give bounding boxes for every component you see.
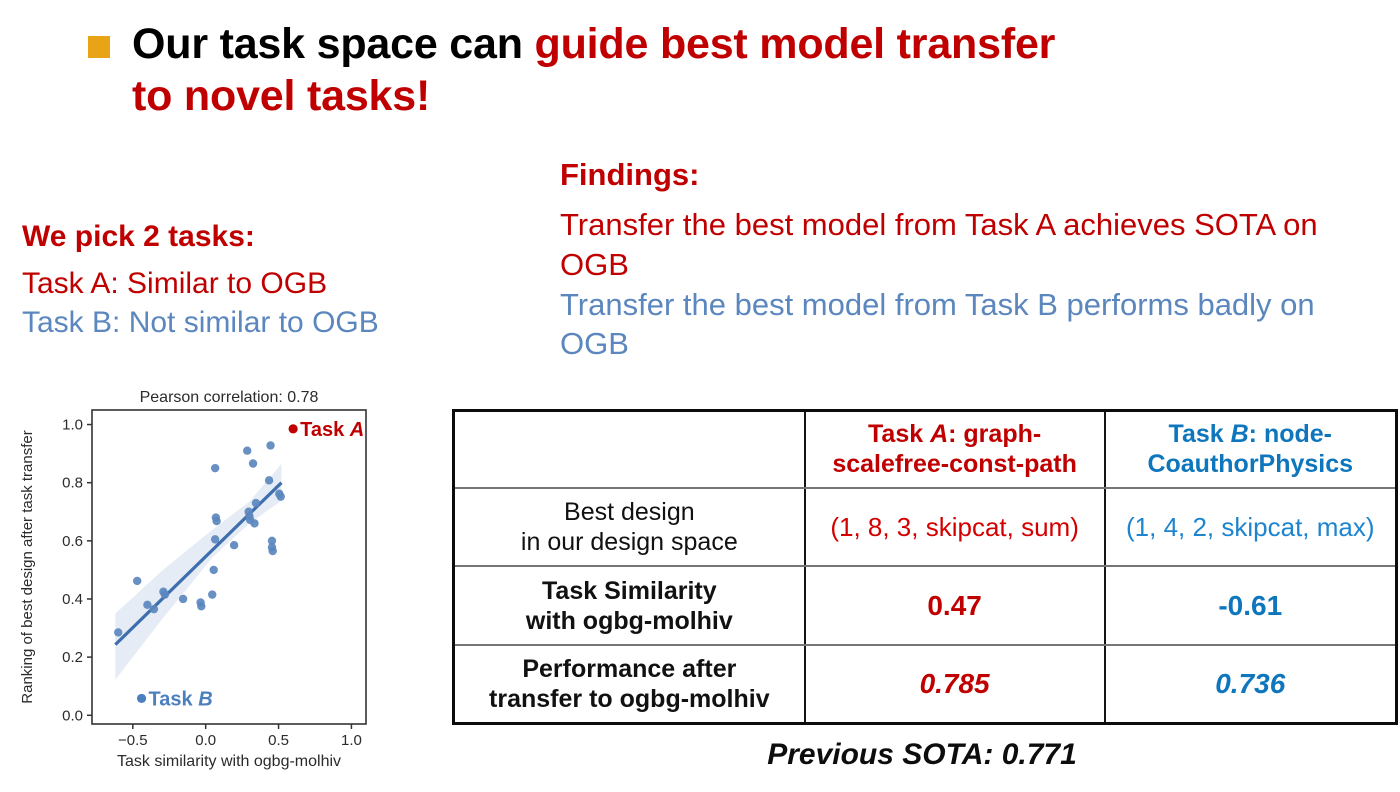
scatter-point bbox=[269, 547, 277, 555]
annotation-dot-icon bbox=[137, 694, 146, 703]
scatter-point bbox=[265, 476, 273, 484]
findings-task-b-text: Transfer the best model from Task B perf… bbox=[560, 285, 1390, 364]
scatter-point bbox=[266, 441, 274, 449]
row1-label-line1: Task Similarity bbox=[542, 577, 717, 605]
annotation-label: Task A bbox=[300, 419, 364, 441]
y-tick-label: 0.2 bbox=[62, 649, 83, 666]
chart-title: Pearson correlation: 0.78 bbox=[140, 389, 319, 406]
x-axis-label: Task similarity with ogbg-molhiv bbox=[117, 753, 341, 770]
table-row: Task Similarity with ogbg-molhiv 0.47 -0… bbox=[455, 566, 1395, 644]
row2-value-task-a: 0.785 bbox=[805, 645, 1105, 722]
row-label-performance-after-transfer: Performance after transfer to ogbg-molhi… bbox=[455, 645, 805, 722]
previous-sota-text: Previous SOTA: 0.771 bbox=[452, 738, 1392, 772]
scatter-point bbox=[161, 590, 169, 598]
hdr-b-line2: CoauthorPhysics bbox=[1147, 450, 1353, 478]
row1-label-line2: with ogbg-molhiv bbox=[526, 607, 733, 635]
row-label-best-design: Best design in our design space bbox=[455, 488, 805, 566]
y-tick-label: 0.8 bbox=[62, 475, 83, 492]
scatter-point bbox=[197, 602, 205, 610]
title-line2-red: to novel tasks! bbox=[132, 72, 430, 120]
y-tick-label: 0.6 bbox=[62, 533, 83, 550]
row0-value-task-a: (1, 8, 3, skipcat, sum) bbox=[805, 488, 1105, 566]
row1-value-task-b: -0.61 bbox=[1105, 566, 1395, 644]
annotation-dot-icon bbox=[289, 424, 298, 433]
scatter-point bbox=[277, 492, 285, 500]
we-pick-tasks-block: We pick 2 tasks: Task A: Similar to OGB … bbox=[22, 218, 542, 342]
scatter-point bbox=[230, 541, 238, 549]
scatter-point bbox=[114, 628, 122, 636]
scatter-plot-svg: Pearson correlation: 0.78−0.50.00.51.00.… bbox=[14, 386, 374, 778]
chart-annotation-a: Task A bbox=[289, 419, 365, 441]
findings-task-a-text: Transfer the best model from Task A achi… bbox=[560, 205, 1390, 284]
row1-value-task-a: 0.47 bbox=[805, 566, 1105, 644]
table-row: Best design in our design space (1, 8, 3… bbox=[455, 488, 1395, 566]
hdr-a-line2: scalefree-const-path bbox=[832, 450, 1077, 478]
scatter-plot: Pearson correlation: 0.78−0.50.00.51.00.… bbox=[14, 386, 374, 778]
square-bullet-icon bbox=[88, 36, 110, 58]
x-tick-label: 1.0 bbox=[341, 732, 362, 749]
hdr-b-rest: : node- bbox=[1249, 420, 1332, 448]
y-tick-label: 0.4 bbox=[62, 591, 83, 608]
scatter-point bbox=[243, 447, 251, 455]
hdr-b-prefix: Task bbox=[1169, 420, 1231, 448]
slide-title-block: Our task space can guide best model tran… bbox=[88, 18, 1378, 123]
scatter-point bbox=[249, 459, 257, 467]
x-tick-label: −0.5 bbox=[118, 732, 148, 749]
y-tick-label: 1.0 bbox=[62, 417, 83, 434]
title-line1-black: Our task space can bbox=[132, 20, 535, 68]
table-row: Performance after transfer to ogbg-molhi… bbox=[455, 645, 1395, 722]
y-axis-label: Ranking of best design after task transf… bbox=[19, 430, 36, 703]
table-header-task-b: Task B: node- CoauthorPhysics bbox=[1105, 412, 1395, 488]
scatter-point bbox=[209, 566, 217, 574]
scatter-point bbox=[150, 605, 158, 613]
row0-label-line1: Best design bbox=[564, 498, 695, 526]
scatter-point bbox=[211, 464, 219, 472]
title-line1-red: guide best model transfer bbox=[535, 20, 1056, 68]
row0-value-task-b: (1, 4, 2, skipcat, max) bbox=[1105, 488, 1395, 566]
plot-frame bbox=[92, 410, 366, 724]
row2-label-line1: Performance after bbox=[522, 655, 736, 683]
row-label-task-similarity: Task Similarity with ogbg-molhiv bbox=[455, 566, 805, 644]
scatter-point bbox=[208, 590, 216, 598]
results-table: Task A: graph- scalefree-const-path Task… bbox=[452, 409, 1398, 725]
x-tick-label: 0.5 bbox=[268, 732, 289, 749]
scatter-point bbox=[211, 535, 219, 543]
scatter-point bbox=[212, 517, 220, 525]
pick-task-b-text: Task B: Not similar to OGB bbox=[22, 303, 542, 342]
hdr-b-italic: B bbox=[1231, 420, 1249, 448]
table-header-row: Task A: graph- scalefree-const-path Task… bbox=[455, 412, 1395, 488]
page-title: Our task space can guide best model tran… bbox=[132, 18, 1378, 123]
findings-block: Findings: Transfer the best model from T… bbox=[560, 156, 1390, 364]
row0-label-line2: in our design space bbox=[521, 528, 738, 556]
annotation-label: Task B bbox=[149, 688, 213, 710]
row2-value-task-b: 0.736 bbox=[1105, 645, 1395, 722]
scatter-point bbox=[133, 577, 141, 585]
scatter-point bbox=[179, 595, 187, 603]
hdr-a-rest: : graph- bbox=[948, 420, 1041, 448]
x-tick-label: 0.0 bbox=[195, 732, 216, 749]
table-header-task-a: Task A: graph- scalefree-const-path bbox=[805, 412, 1105, 488]
hdr-a-italic: A bbox=[930, 420, 948, 448]
y-tick-label: 0.0 bbox=[62, 707, 83, 724]
scatter-point bbox=[252, 499, 260, 507]
chart-annotation-b: Task B bbox=[137, 688, 213, 710]
findings-heading: Findings: bbox=[560, 156, 1390, 193]
row2-label-line2: transfer to ogbg-molhiv bbox=[489, 685, 770, 713]
pick-task-a-text: Task A: Similar to OGB bbox=[22, 264, 542, 303]
scatter-point bbox=[250, 519, 258, 527]
confidence-band bbox=[115, 464, 281, 680]
hdr-a-prefix: Task bbox=[868, 420, 930, 448]
table-corner-cell bbox=[455, 412, 805, 488]
we-pick-heading: We pick 2 tasks: bbox=[22, 218, 542, 256]
